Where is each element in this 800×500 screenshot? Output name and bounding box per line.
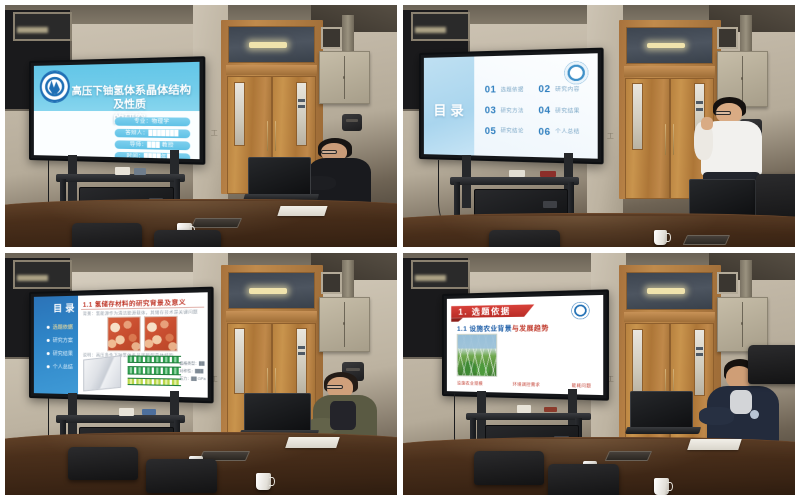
door-handle-right[interactable] [275,121,276,151]
door-handle-right[interactable] [673,124,674,155]
collage-panel-bottom-right: 工 1. 选题依据 1.1 设施农业背景与 [403,253,795,495]
cart-small-item [119,408,135,416]
chair[interactable] [154,230,221,247]
cabinet-knob[interactable] [741,77,743,80]
wall-cabinet[interactable] [319,297,370,353]
sidebar-item-label: 个人总结 [52,363,72,370]
coffee-mug [654,478,669,495]
cart-small-item-2 [134,168,146,174]
item-number: 02 [538,84,550,95]
door-transom [626,272,714,310]
slide-screen: 1. 选题依据 1.1 设施农业背景与发展趋势 设施农业规模 环境调控需求 能耗… [447,295,603,395]
laptop-lid[interactable] [244,393,311,432]
table-reflection [442,216,716,247]
subtitle-red: 与发展趋势 [512,325,549,333]
door-glass-left [632,83,643,150]
meta-pill: 答辩人：███████ [114,128,190,137]
molecular-layer [127,377,180,386]
molecular-layer [127,355,180,363]
door-handle-left[interactable] [267,121,268,151]
glasses [326,385,343,389]
item-number: 05 [484,126,496,137]
wall-picture [717,27,739,49]
contents-item[interactable]: 04 研究结果 [538,101,588,121]
cart-small-item-2 [142,409,155,415]
cabinet-knob[interactable] [343,322,345,325]
wall-sign: 工 [607,131,615,141]
bullet-icon [46,365,49,368]
item-number: 04 [538,105,550,116]
slide-title: 高压下铀氢体系晶体结构及性质 的研究 专业：物理学 答辩人：███████ 导师… [33,61,198,159]
coffee-mug [654,230,667,245]
wall-picture [321,27,343,49]
table-cable-port [191,218,242,228]
room-scene: 工 1. 选题依据 1.1 设施农业背景与 [403,253,795,495]
contents-item[interactable]: 02 研究内容 [538,79,588,99]
slide-contents: 目录 01 选题依据 02 研究内容 [424,54,598,160]
cabinet-knob[interactable] [741,322,743,325]
contents-item[interactable]: 06 个人总结 [538,122,588,143]
greenhouse-photo-image [457,334,497,377]
sidebar-item-label: 研究结果 [52,350,72,357]
glass-marking [298,99,305,102]
contents-grid: 01 选题依据 02 研究内容 03 研究方法 [484,79,588,142]
cart-small-item-2 [544,407,557,413]
wall-pipe [740,15,752,54]
window-light-glow [415,27,446,33]
wall-pipe [342,15,354,54]
slide-screen: 目录 选题依据 研究方案 [33,292,207,398]
coffee-mug [256,473,271,490]
contents-item[interactable]: 01 选题依据 [484,80,531,100]
cart-small-item-2 [540,171,556,177]
tv-cart-shelf [56,174,185,182]
glass-marking [298,346,305,349]
arm [699,407,734,424]
slide-screen: 高压下铀氢体系晶体结构及性质 的研究 专业：物理学 答辩人：███████ 导师… [33,61,198,159]
door-transom [228,26,316,63]
table-cable-port [683,235,730,245]
item-number: 01 [484,85,496,95]
room-scene: 工 目录 01 选题依据 [403,5,795,247]
sidebar-item-label: 研究方案 [52,337,72,344]
tv-cart-shelf [56,415,185,423]
laptop-lid[interactable] [248,157,311,196]
glasses [715,111,731,115]
figure-legend: 晶格类型：██ 对称性：███ 压力：██ GPa [179,360,204,383]
presentation-display[interactable]: 目录 01 选题依据 02 研究内容 [419,48,604,165]
inner-shirt [330,401,355,430]
collage-panel-bottom-left: 工 目录 选题依据 [5,253,397,495]
bullet-icon [46,339,49,342]
item-label: 选题依据 [500,86,523,94]
chair[interactable] [748,345,795,384]
hand [701,117,713,130]
wall-pipe [342,260,354,299]
document-paper [687,439,741,450]
laptop-lid[interactable] [630,391,693,430]
contents-item[interactable]: 05 研究结论 [484,121,531,141]
glasses [321,150,337,154]
room-scene: 工 目录 选题依据 [5,253,397,495]
ceiling-light [647,288,685,294]
item-label: 个人总结 [555,128,580,136]
cart-small-item [517,405,531,413]
section-banner-text: 1. 选题依据 [451,305,511,317]
room-scene: 工 高压下铀氢体系晶体结构及性质 的研究 [5,5,397,247]
legend-entry: 晶格类型：██ [179,360,204,366]
presentation-display[interactable]: 目录 选题依据 研究方案 [29,286,214,403]
presentation-display[interactable]: 1. 选题依据 1.1 设施农业背景与发展趋势 设施农业规模 环境调控需求 能耗… [442,289,609,400]
door-glass-left [234,82,245,147]
cart-small-item [115,167,131,175]
wall-pipe [740,260,752,299]
slide-red-banner: 1. 选题依据 1.1 设施农业背景与发展趋势 设施农业规模 环境调控需求 能耗… [447,295,603,395]
university-emblem-icon [39,70,68,103]
section-banner: 1. 选题依据 [451,305,534,319]
door-glass-left [234,328,245,394]
molecular-layer [127,366,180,374]
slide-screen: 目录 01 选题依据 02 研究内容 [424,54,598,160]
door-header-rail [624,312,716,323]
door-glass-right [296,82,307,147]
slide-content-area: 1.1 氢储存材料的研究背景及意义 背景：氢能源作为清洁能源载体，其储存技术是关… [77,292,207,398]
document-paper [278,206,328,216]
slide-subtitle: 1.1 设施农业背景与发展趋势 [457,322,549,333]
item-label: 研究内容 [555,86,580,94]
photo-collage: 工 高压下铀氢体系晶体结构及性质 的研究 [0,0,800,500]
legend-entry: 对称性：███ [179,367,204,373]
chair[interactable] [146,459,217,493]
meta-pill: 导师：███ 教授 [114,140,190,150]
door-header-rail [624,66,716,77]
document-paper [285,437,339,448]
wall-sign: 工 [211,128,219,138]
tv-cart-shelf [450,177,579,185]
laptop-base[interactable] [625,427,702,434]
ceiling-light [647,43,685,49]
contents-item[interactable]: 03 研究方法 [484,101,531,121]
inner-collar [730,390,752,414]
table-cable-port [605,451,652,461]
collage-panel-top-left: 工 高压下铀氢体系晶体结构及性质 的研究 [5,5,397,247]
meta-pill: 专业：物理学 [114,117,190,126]
glass-marking-2 [298,105,305,108]
item-label: 研究结果 [555,107,580,115]
electron-density-map-a-image [107,316,140,351]
bullet-icon [46,326,49,329]
wall-device[interactable] [342,114,362,131]
window-light-glow [17,275,48,281]
ceiling-light [249,288,287,294]
caption: 环境调控需求 [513,381,541,388]
door-header-rail [226,65,318,75]
window-light-glow [17,27,48,33]
caption: 设施农业规模 [457,380,483,387]
contents-heading: 目录 [433,101,467,121]
ceiling-light [249,42,287,48]
legend-entry: 压力：██ GPa [179,375,204,381]
cart-small-item [509,170,525,178]
presentation-display[interactable]: 高压下铀氢体系晶体结构及性质 的研究 专业：物理学 答辩人：███████ 导师… [29,56,205,165]
window-light-glow [415,275,446,281]
door-glass-left [632,329,643,396]
wall-picture [321,272,343,294]
subtitle-blue: 1.1 设施农业背景 [457,325,512,333]
laptop-lid[interactable] [689,179,756,218]
chair[interactable] [474,451,545,485]
chair[interactable] [72,223,143,247]
chair[interactable] [489,230,560,247]
sidebar-heading: 目录 [53,300,77,314]
item-label: 研究结论 [500,128,523,136]
wall-picture [717,272,739,294]
tv-cart-shelf [466,413,591,421]
wall-cabinet[interactable] [717,297,768,353]
layered-crystal-structure-image [127,355,180,391]
door-leaf-left[interactable] [625,78,670,199]
sidebar-item-label: 选题依据 [52,323,72,330]
item-label: 研究方法 [500,107,523,114]
chair[interactable] [548,464,619,495]
glass-marking [696,347,703,350]
wall-cabinet[interactable] [319,51,370,104]
door-transom [626,27,714,65]
sem-micrograph-image [82,355,119,391]
door-handle-left[interactable] [665,124,666,155]
door-header-rail [226,311,318,322]
slide-structure: 目录 选题依据 研究方案 [33,292,207,398]
glass-marking-2 [696,353,703,356]
electron-density-map-b-image [143,316,178,351]
item-number: 03 [484,105,496,115]
cabinet-knob[interactable] [343,76,345,79]
glass-marking-2 [298,352,305,355]
bullet-icon [46,352,49,355]
door-transom [228,272,316,309]
chair[interactable] [68,447,139,481]
collage-panel-top-right: 工 目录 01 选题依据 [403,5,795,247]
item-number: 06 [538,126,550,137]
